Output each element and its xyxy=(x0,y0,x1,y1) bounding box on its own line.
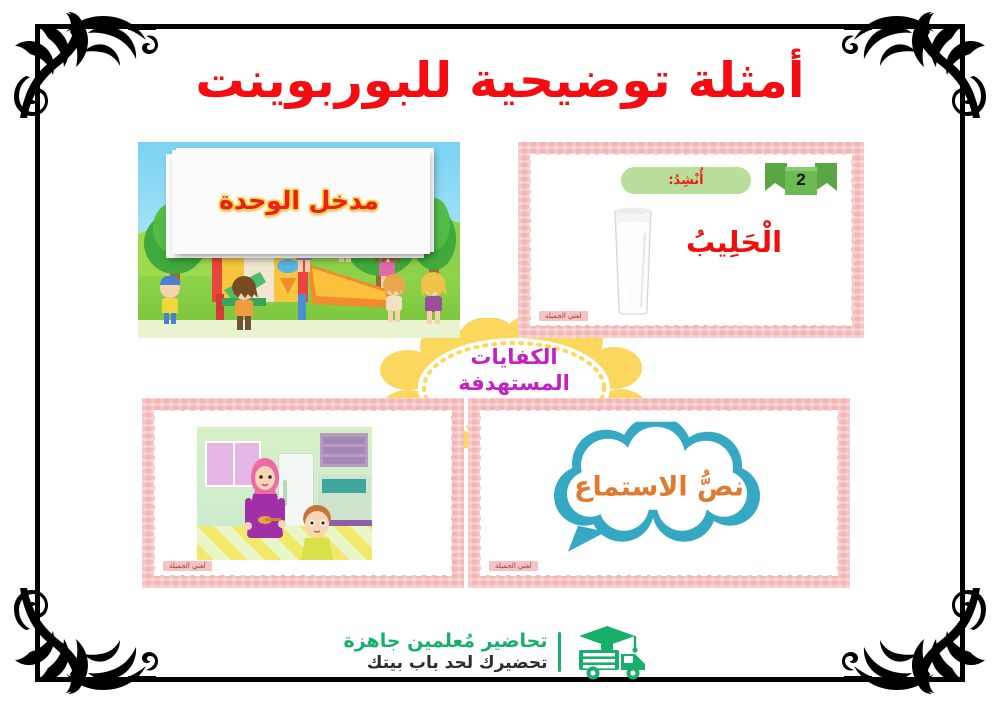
brand-line2: تحضيرك لحد باب بيتك xyxy=(344,653,548,674)
page-title: أمثلة توضيحية للبوربوينت xyxy=(0,52,1000,109)
milk-glass-icon xyxy=(609,207,657,317)
frame-top-line xyxy=(35,24,965,29)
cabinet-icon xyxy=(320,433,368,467)
card-kitchen-scene[interactable]: لغتي الجميلة xyxy=(142,398,464,588)
milk-word: الْحَلِيبُ xyxy=(649,225,819,259)
card-milk-song[interactable]: 2 أُنْشِدُ: الْحَلِيبُ لغتي الجميلة xyxy=(518,142,864,338)
card-unit-heading: مدخل الوحدة xyxy=(138,186,460,215)
flower-text-line1: الكفايات xyxy=(368,344,660,370)
card-unit-intro[interactable]: مدخل الوحدة xyxy=(138,142,460,338)
brand-logo: تحاضير مُعلمين جاهزة تحضيرك لحد باب بيتك xyxy=(0,624,1000,680)
ribbon-number-text: 2 xyxy=(765,170,837,190)
delivery-truck-graduation-cap-icon xyxy=(571,624,657,680)
child-icon xyxy=(374,274,414,322)
card-footer-label: لغتي الجميلة xyxy=(163,561,212,571)
kitchen-illustration xyxy=(197,427,372,560)
child-icon xyxy=(222,276,266,330)
prompt-pill-label: أُنْشِدُ: xyxy=(668,173,703,188)
brand-divider xyxy=(558,632,561,672)
child-icon xyxy=(150,276,190,324)
boy-figure-icon xyxy=(296,502,338,560)
mother-figure-icon xyxy=(239,454,291,550)
cloud-label: نصُّ الاستماع xyxy=(544,472,774,503)
flower-text-line2: المستهدفة xyxy=(368,370,660,396)
brand-text: تحاضير مُعلمين جاهزة تحضيرك لحد باب بيتك xyxy=(344,630,548,675)
child-icon xyxy=(412,272,454,324)
speech-cloud: نصُّ الاستماع xyxy=(544,422,774,554)
prompt-pill: أُنْشِدُ: xyxy=(621,167,751,194)
poster-page: أمثلة توضيحية للبوربوينت الكفايات xyxy=(0,0,1000,706)
ribbon-number: 2 xyxy=(765,161,837,199)
card-footer-label: لغتي الجميلة xyxy=(489,561,538,571)
card-listening-text[interactable]: نصُّ الاستماع لغتي الجميلة xyxy=(468,398,850,588)
brand-line1: تحاضير مُعلمين جاهزة xyxy=(344,630,548,654)
card-footer-label: لغتي الجميلة xyxy=(539,311,588,321)
